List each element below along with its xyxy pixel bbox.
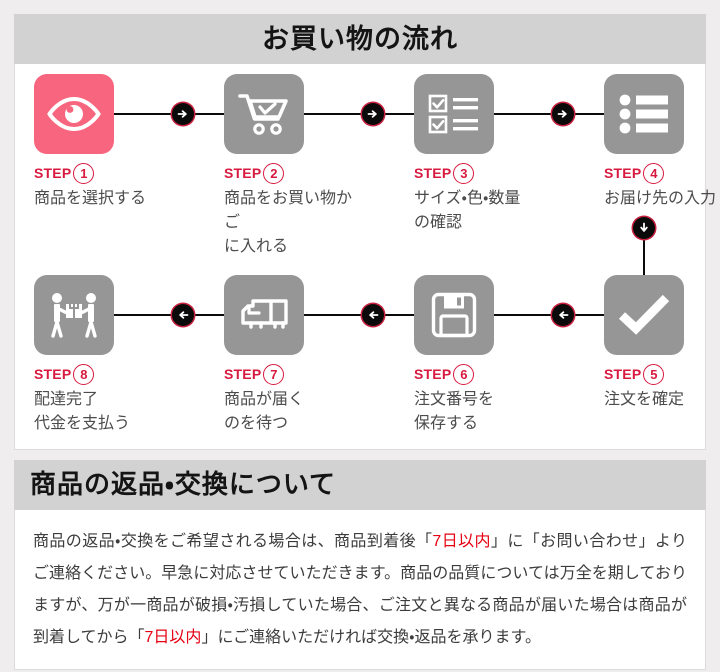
flow-step-7[interactable]: STEP 7 商品が届く のを待つ <box>224 275 364 436</box>
line-4-5-lower <box>643 255 645 277</box>
connector-3-to-4-arrow-right-icon <box>552 103 574 125</box>
flow-diagram-panel: STEP 1 商品を選択する <box>14 64 706 450</box>
flow-step-5[interactable]: STEP 5 注文を確定 <box>604 275 720 412</box>
flow-step-2[interactable]: STEP 2 商品をお買い物かご に入れる <box>224 74 364 259</box>
connector-7-to-8-arrow-left-icon <box>172 304 194 326</box>
step-4-tile <box>604 74 684 154</box>
step-3-label: STEP 3 <box>414 163 554 183</box>
step-2-word: STEP <box>224 165 261 181</box>
step-1-number: 1 <box>73 163 94 184</box>
checkmark-icon <box>618 294 670 336</box>
floppy-disk-save-icon <box>431 292 477 338</box>
step-7-text: 商品が届く のを待つ <box>224 388 364 436</box>
step-1-text: 商品を選択する <box>34 187 174 211</box>
returns-section-title: 商品の返品・交換について <box>14 460 706 510</box>
shopping-flow-page: お買い物の流れ <box>0 0 720 672</box>
step-1-word: STEP <box>34 165 71 181</box>
step-4-word: STEP <box>604 165 641 181</box>
step-5-tile <box>604 275 684 355</box>
step-7-label: STEP 7 <box>224 364 364 384</box>
connector-4-to-5-arrow-down-icon <box>633 217 655 239</box>
returns-policy-text: 商品の返品・交換をご希望される場合は、商品到着後「7日以内」に「お問い合わせ」よ… <box>33 526 687 654</box>
step-3-word: STEP <box>414 165 451 181</box>
connector-5-to-6-arrow-left-icon <box>552 304 574 326</box>
flow-step-4[interactable]: STEP 4 お届け先の入力 <box>604 74 720 211</box>
step-5-number: 5 <box>643 364 664 385</box>
step-6-label: STEP 6 <box>414 364 554 384</box>
step-7-number: 7 <box>263 364 284 385</box>
step-8-tile <box>34 275 114 355</box>
step-1-label: STEP 1 <box>34 163 174 183</box>
step-7-tile <box>224 275 304 355</box>
step-3-text: サイズ・色・数量 の確認 <box>414 187 554 235</box>
step-6-text: 注文番号を 保存する <box>414 388 554 436</box>
flow-step-1[interactable]: STEP 1 商品を選択する <box>34 74 174 211</box>
step-8-text: 配達完了 代金を支払う <box>34 388 174 436</box>
step-8-number: 8 <box>73 364 94 385</box>
step-3-tile <box>414 74 494 154</box>
step-4-text: お届け先の入力 <box>604 187 720 211</box>
policy-highlight-3: 7日以内 <box>145 629 202 646</box>
flow-section-title: お買い物の流れ <box>14 14 706 64</box>
step-5-label: STEP 5 <box>604 364 720 384</box>
step-4-number: 4 <box>643 163 664 184</box>
policy-text-4: 」にご連絡いただければ交換・返品を承ります。 <box>201 629 541 646</box>
flow-step-8[interactable]: STEP 8 配達完了 代金を支払う <box>34 275 174 436</box>
step-7-word: STEP <box>224 366 261 382</box>
section-spacer <box>14 450 706 460</box>
step-6-number: 6 <box>453 364 474 385</box>
connector-1-to-2-arrow-right-icon <box>172 103 194 125</box>
step-6-tile <box>414 275 494 355</box>
policy-highlight-1: 7日以内 <box>432 533 491 550</box>
connector-6-to-7-arrow-left-icon <box>362 304 384 326</box>
step-6-word: STEP <box>414 366 451 382</box>
eye-icon <box>46 96 102 132</box>
policy-text-0: 商品の返品・交換をご希望される場合は、商品到着後「 <box>33 533 432 550</box>
checklist-icon <box>428 93 480 135</box>
connector-2-to-3-arrow-right-icon <box>362 103 384 125</box>
returns-policy-panel: 商品の返品・交換をご希望される場合は、商品到着後「7日以内」に「お問い合わせ」よ… <box>14 510 706 670</box>
step-1-tile <box>34 74 114 154</box>
flow-row-bottom: STEP 8 配達完了 代金を支払う <box>15 257 705 450</box>
step-8-word: STEP <box>34 366 71 382</box>
step-2-label: STEP 2 <box>224 163 364 183</box>
step-2-text: 商品をお買い物かご に入れる <box>224 187 364 259</box>
flow-step-3[interactable]: STEP 3 サイズ・色・数量 の確認 <box>414 74 554 235</box>
shopping-cart-icon <box>238 91 290 137</box>
step-3-number: 3 <box>453 163 474 184</box>
step-5-word: STEP <box>604 366 641 382</box>
step-5-text: 注文を確定 <box>604 388 720 412</box>
step-2-tile <box>224 74 304 154</box>
flow-row-top: STEP 1 商品を選択する <box>15 64 705 257</box>
bullet-list-icon <box>619 94 669 134</box>
step-8-label: STEP 8 <box>34 364 174 384</box>
step-4-label: STEP 4 <box>604 163 720 183</box>
package-handover-icon <box>46 291 102 339</box>
delivery-truck-icon <box>237 295 291 335</box>
step-2-number: 2 <box>263 163 284 184</box>
flow-step-6[interactable]: STEP 6 注文番号を 保存する <box>414 275 554 436</box>
